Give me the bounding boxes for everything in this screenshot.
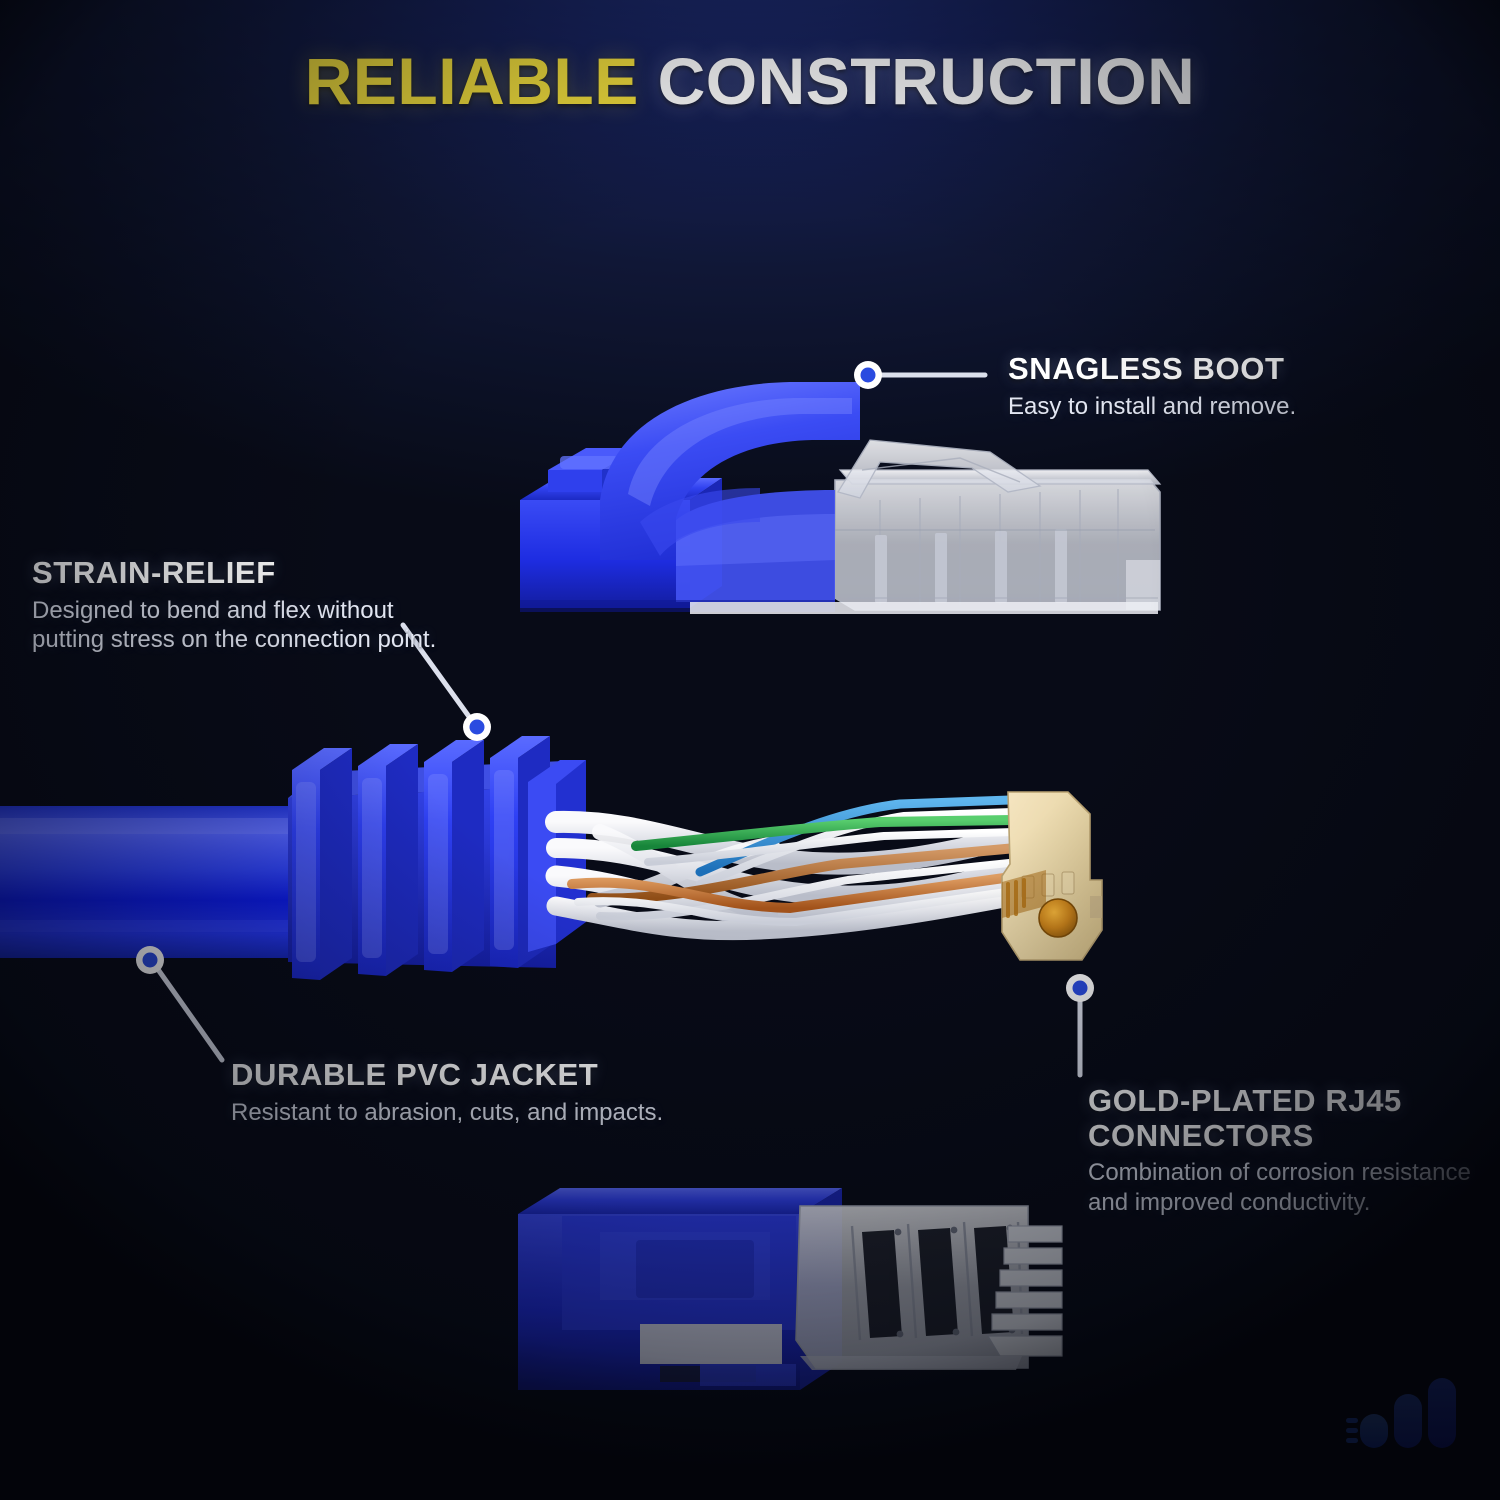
callout-heading: DURABLE PVC JACKET: [231, 1058, 701, 1093]
signal-bars-logo: [1346, 1374, 1456, 1452]
marker-strain-relief: [463, 713, 491, 741]
callout-body: Designed to bend and flex without puttin…: [32, 596, 452, 655]
callout-body: Easy to install and remove.: [1008, 392, 1438, 421]
marker-pvc-jacket: [136, 946, 164, 974]
callout-snagless-boot: SNAGLESS BOOT Easy to install and remove…: [1008, 352, 1438, 421]
logo-bar-short: [1360, 1414, 1388, 1448]
callout-heading: STRAIN-RELIEF: [32, 556, 452, 591]
marker-gold-connectors: [1066, 974, 1094, 1002]
callout-durable-pvc-jacket: DURABLE PVC JACKET Resistant to abrasion…: [231, 1058, 701, 1127]
marker-snagless-boot: [854, 361, 882, 389]
callout-body: Resistant to abrasion, cuts, and impacts…: [231, 1098, 701, 1127]
logo-bar-tall: [1428, 1378, 1456, 1448]
callout-heading: GOLD-PLATED RJ45 CONNECTORS: [1088, 1084, 1488, 1153]
callout-leader-lines: [0, 0, 1500, 1500]
callout-heading: SNAGLESS BOOT: [1008, 352, 1438, 387]
callout-body: Combination of corrosion resistance and …: [1088, 1158, 1488, 1217]
callout-gold-plated-rj45-connectors: GOLD-PLATED RJ45 CONNECTORS Combination …: [1088, 1084, 1488, 1217]
callout-strain-relief: STRAIN-RELIEF Designed to bend and flex …: [32, 556, 452, 654]
leader-line-pvc-jacket: [157, 968, 222, 1060]
callout-markers: [136, 361, 1094, 1002]
infographic-canvas: RELIABLE CONSTRUCTION: [0, 0, 1500, 1500]
logo-prong-marks: [1346, 1418, 1358, 1443]
logo-bar-medium: [1394, 1394, 1422, 1448]
